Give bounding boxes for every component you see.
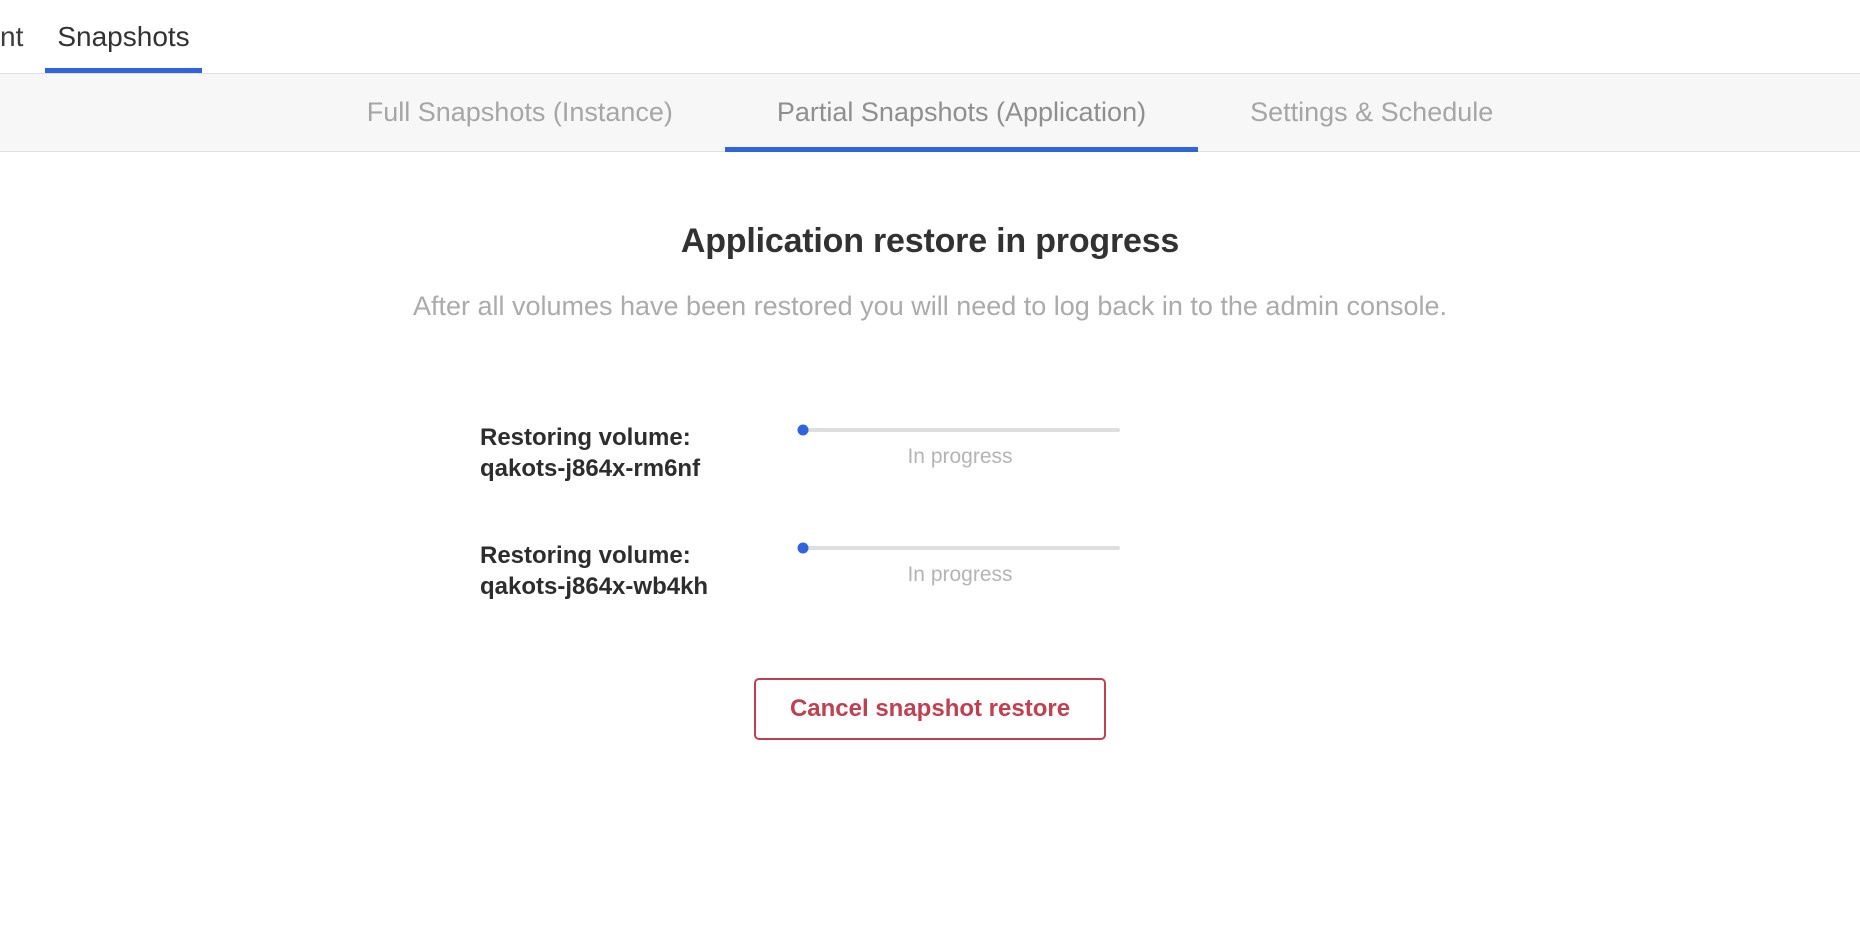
volume-name: qakots-j864x-rm6nf — [480, 454, 800, 485]
status-badge: In progress — [800, 563, 1120, 587]
page-title: Application restore in progress — [681, 222, 1179, 261]
tab-truncated-left[interactable]: nt — [0, 0, 37, 73]
subtab-partial-snapshots-application[interactable]: Partial Snapshots (Application) — [725, 74, 1198, 151]
progress-indicator-dot — [798, 425, 809, 436]
subtab-label: Full Snapshots (Instance) — [367, 97, 673, 128]
subtab-label: Settings & Schedule — [1250, 97, 1493, 128]
restore-progress-panel: Application restore in progress After al… — [0, 152, 1860, 952]
cancel-snapshot-restore-button[interactable]: Cancel snapshot restore — [754, 678, 1106, 740]
tab-label: nt — [0, 21, 23, 53]
secondary-tab-bar: Full Snapshots (Instance) Partial Snapsh… — [0, 73, 1860, 152]
progress-bar — [800, 546, 1120, 550]
volume-progress-group: In progress — [800, 414, 1130, 469]
tab-snapshots[interactable]: Snapshots — [37, 0, 209, 73]
list-item: Restoring volume: qakots-j864x-rm6nf In … — [480, 414, 1380, 492]
progress-indicator-dot — [798, 543, 809, 554]
cancel-button-row: Cancel snapshot restore — [480, 678, 1380, 740]
volume-restore-list: Restoring volume: qakots-j864x-rm6nf In … — [480, 414, 1380, 650]
status-badge: In progress — [800, 445, 1120, 469]
volume-label-prefix: Restoring volume: — [480, 423, 800, 454]
tab-label: Snapshots — [57, 21, 189, 53]
volume-label: Restoring volume: qakots-j864x-wb4kh — [480, 532, 800, 602]
page-subtitle: After all volumes have been restored you… — [413, 291, 1447, 322]
primary-tab-bar: nt Snapshots — [0, 0, 1860, 73]
list-item: Restoring volume: qakots-j864x-wb4kh In … — [480, 532, 1380, 610]
subtab-label: Partial Snapshots (Application) — [777, 97, 1146, 128]
progress-bar — [800, 428, 1120, 432]
subtab-settings-and-schedule[interactable]: Settings & Schedule — [1198, 74, 1545, 151]
volume-label: Restoring volume: qakots-j864x-rm6nf — [480, 414, 800, 484]
volume-progress-group: In progress — [800, 532, 1130, 587]
volume-label-prefix: Restoring volume: — [480, 541, 800, 572]
volume-name: qakots-j864x-wb4kh — [480, 572, 800, 603]
subtab-full-snapshots-instance[interactable]: Full Snapshots (Instance) — [315, 74, 725, 151]
